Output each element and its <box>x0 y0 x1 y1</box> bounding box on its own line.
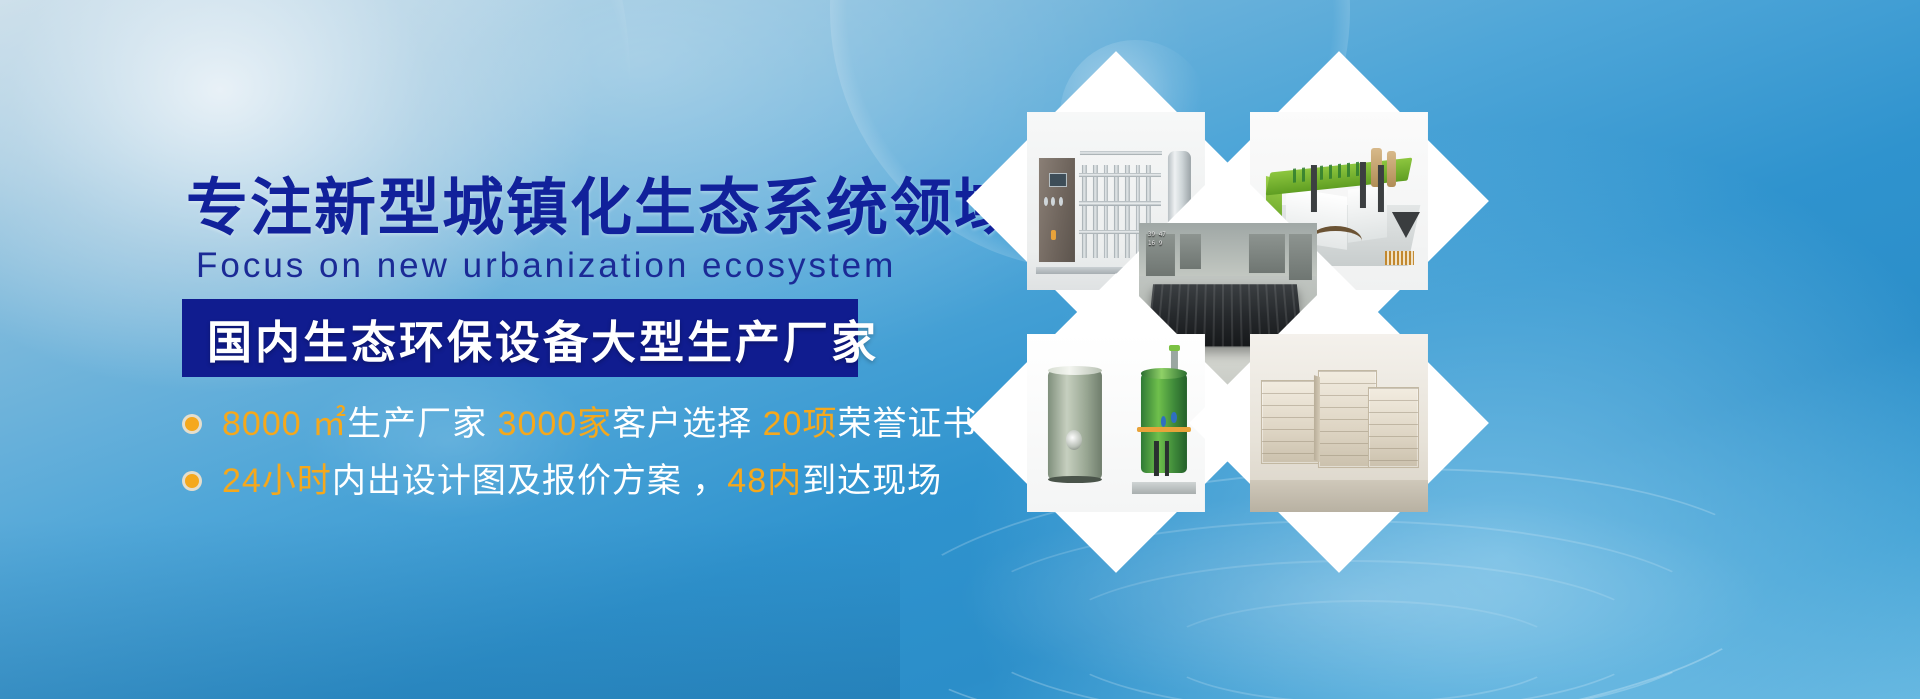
banner-headline: 专注新型城镇化生态系统领域 <box>186 178 1018 240</box>
aerated-blocks-image <box>1250 334 1428 512</box>
banner-bullet-list: 8000 ㎡生产厂家 3000家客户选择 20项荣誉证书 24小时内出设计图及报… <box>182 400 977 514</box>
banner-badge-text: 国内生态环保设备大型生产厂家 <box>207 306 879 371</box>
bullet-1-seg-3: 3000家 <box>498 405 613 443</box>
bullet-dot-icon <box>182 414 202 434</box>
product-diamond-grid: 39 47 16 9 中国制造 <box>900 0 1920 699</box>
product-diamond-inner <box>1250 334 1428 512</box>
bullet-dot-icon <box>182 471 202 491</box>
bullet-2-seg-2: 内出设计图及报价方案 ， <box>332 462 727 500</box>
site-overlay-timestamp: 39 47 16 9 <box>1148 230 1166 248</box>
banner-badge-box: 国内生态环保设备大型生产厂家 <box>182 299 858 377</box>
bullet-2-seg-1: 24小时 <box>222 462 332 500</box>
banner-subheadline: Focus on new urbanization ecosystem <box>196 248 896 283</box>
bullet-line-1-text: 8000 ㎡生产厂家 3000家客户选择 20项荣誉证书 <box>222 407 977 441</box>
bullet-1-seg-1: 8000 ㎡ <box>222 405 347 443</box>
bullet-line: 24小时内出设计图及报价方案 ，48内到达现场 <box>182 457 977 505</box>
bullet-line: 8000 ㎡生产厂家 3000家客户选择 20项荣誉证书 <box>182 400 977 448</box>
banner-copy: 专注新型城镇化生态系统领域 Focus on new urbanization … <box>0 0 920 699</box>
bullet-line-2-text: 24小时内出设计图及报价方案 ，48内到达现场 <box>222 464 942 498</box>
bullet-1-seg-4: 客户选择 <box>612 405 762 443</box>
bullet-2-seg-3: 48内 <box>727 462 802 500</box>
product-diamond-inner <box>1027 334 1205 512</box>
bullet-1-seg-5: 20项 <box>763 405 838 443</box>
pump-station-units-image <box>1027 334 1205 512</box>
hero-banner: 专注新型城镇化生态系统领域 Focus on new urbanization … <box>0 0 1920 699</box>
bullet-1-seg-2: 生产厂家 <box>347 405 497 443</box>
